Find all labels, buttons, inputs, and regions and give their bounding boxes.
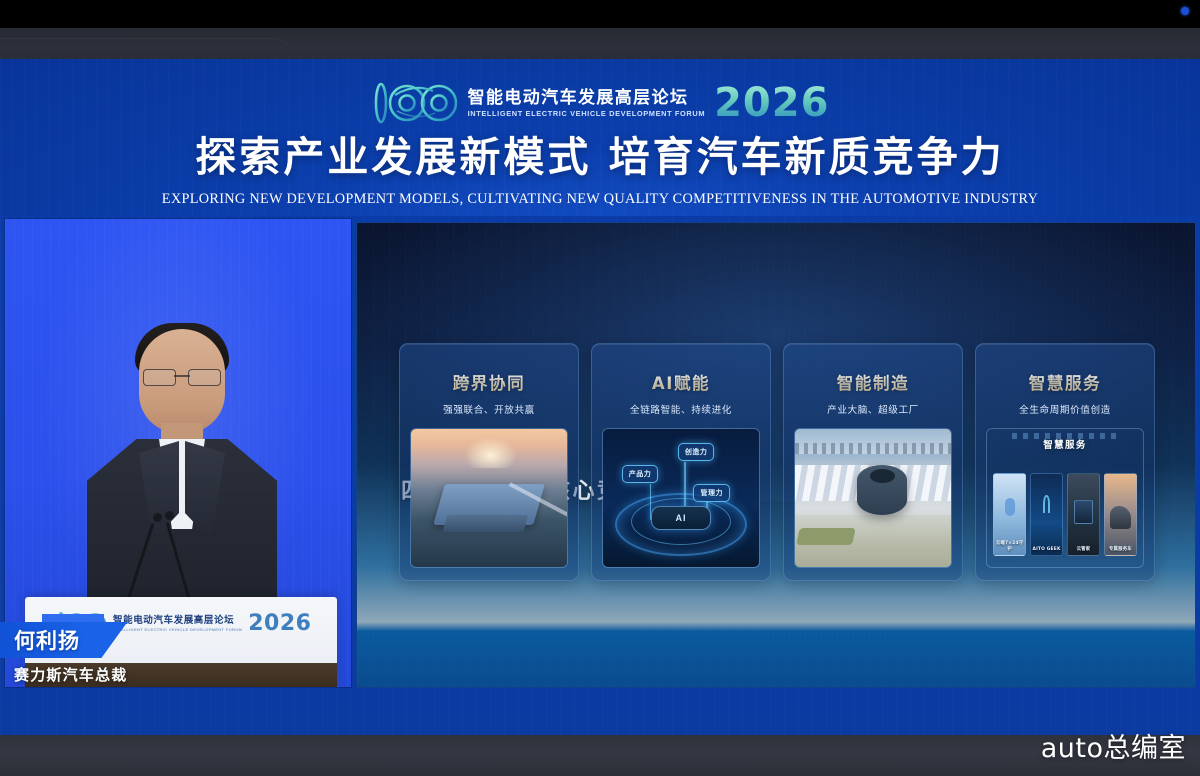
factory-annex: [443, 515, 529, 532]
forum-100-logo-icon: [371, 81, 459, 125]
round-building-courtyard: [870, 469, 895, 483]
ai-node-creation: 创造力: [678, 443, 715, 461]
top-black-bar: [0, 0, 1200, 28]
podium-forum-name-cn: 智能电动汽车发展高层论坛: [113, 616, 242, 626]
panel-tile-row: 云端7×24守护 AITO GEEK 云管家: [993, 473, 1137, 556]
banner-headline: 探索产业发展新模式 培育汽车新质竞争力: [0, 135, 1200, 181]
green-area: [796, 528, 856, 545]
card-subheading: 全生命周期价值创造: [976, 402, 1154, 416]
card-heading: 智慧服务: [976, 370, 1154, 394]
sunset-glow: [464, 437, 517, 467]
watermark: auto总编室: [1041, 726, 1186, 765]
forum-year: 2026: [714, 83, 829, 123]
name-plate-tab: [42, 614, 104, 623]
speaker-name-plate: 何利扬 赛力斯汽车总裁: [0, 622, 127, 685]
recording-indicator-icon: [1181, 7, 1189, 15]
tile-label: AITO GEEK: [1031, 547, 1062, 552]
slide-card-cross-domain: 跨界协同 强强联合、开放共赢: [399, 343, 579, 581]
banner-subheadline: EXPLORING NEW DEVELOPMENT MODELS, CULTIV…: [0, 191, 1200, 208]
panel-tile-service-vehicle: 专属服务车: [1104, 473, 1137, 556]
speaker-name: 何利扬: [0, 622, 127, 658]
slide-card-ai-empowerment: AI赋能 全链路智能、持续进化 产品力 创造力 管理力 AI: [591, 343, 771, 581]
city-skyline: [795, 443, 951, 454]
panel-tile-cloud-guard: 云端7×24守护: [993, 473, 1026, 556]
laptop-icon: [1074, 500, 1092, 524]
microphone-head-left: [153, 513, 162, 522]
speaker-figure: [87, 329, 277, 629]
forum-name-cn: 智能电动汽车发展高层论坛: [468, 90, 706, 107]
forum-name-en: INTELLIGENT ELECTRIC VEHICLE DEVELOPMENT…: [468, 110, 706, 117]
glasses-icon: [143, 369, 221, 384]
slide-card-row: 跨界协同 强强联合、开放共赢 AI赋能 全链路智能、持续进化: [399, 343, 1155, 581]
tile-label: 云端7×24守护: [994, 540, 1025, 552]
card-image-smart-service-panel: 智慧服务 云端7×24守护 AITO GEEK: [986, 428, 1144, 568]
slide-card-smart-manufacturing: 智能制造 产业大脑、超级工厂: [783, 343, 963, 581]
speaker-title: 赛力斯汽车总裁: [0, 664, 127, 685]
forum-logo-text: 智能电动汽车发展高层论坛 INTELLIGENT ELECTRIC VEHICL…: [468, 88, 706, 117]
podium-forum-year: 2026: [248, 613, 311, 635]
tile-label: 专属服务车: [1105, 546, 1136, 552]
card-subheading: 强强联合、开放共赢: [400, 402, 578, 416]
card-subheading: 全链路智能、持续进化: [592, 402, 770, 416]
forum-logo-lockup: 智能电动汽车发展高层论坛 INTELLIGENT ELECTRIC VEHICL…: [0, 77, 1200, 129]
wifi-icon: [1043, 495, 1050, 513]
card-subheading: 产业大脑、超级工厂: [784, 402, 962, 416]
card-heading: AI赋能: [592, 370, 770, 394]
card-image-smart-factory: [794, 428, 952, 568]
card-heading: 跨界协同: [400, 370, 578, 394]
panel-title: 智慧服务: [987, 437, 1143, 451]
podium-logo-text: 智能电动汽车发展高层论坛 INTELLIGENT ELECTRIC VEHICL…: [113, 616, 242, 632]
card-heading: 智能制造: [784, 370, 962, 394]
cloud-icon: [1005, 498, 1015, 516]
ai-core-label: AI: [651, 506, 710, 529]
ai-node-management: 管理力: [693, 484, 730, 502]
presentation-slide: 四大创新构筑核心竞争力 跨界协同 强强联合、开放共赢 AI赋能 全链路智能、持续…: [356, 222, 1196, 688]
panel-tile-aito-geek: AITO GEEK: [1030, 473, 1063, 556]
ai-node-product: 产品力: [622, 465, 659, 483]
top-gray-band: [0, 28, 1200, 59]
bottom-gray-band: [0, 735, 1200, 776]
car-icon: [1110, 506, 1131, 529]
podium-forum-name-en: INTELLIGENT ELECTRIC VEHICLE DEVELOPMENT…: [113, 628, 242, 632]
card-image-ai-diagram: 产品力 创造力 管理力 AI: [602, 428, 760, 568]
panel-tile-cloud-butler: 云管家: [1067, 473, 1100, 556]
card-image-aerial-factory-sunset: [410, 428, 568, 568]
forum-banner: 智能电动汽车发展高层论坛 INTELLIGENT ELECTRIC VEHICL…: [0, 59, 1200, 216]
microphone-head-right: [165, 511, 174, 520]
slide-card-smart-service: 智慧服务 全生命周期价值创造 智慧服务 云端7×24守护: [975, 343, 1155, 581]
screen: 智能电动汽车发展高层论坛 INTELLIGENT ELECTRIC VEHICL…: [0, 0, 1200, 776]
tile-label: 云管家: [1068, 546, 1099, 552]
